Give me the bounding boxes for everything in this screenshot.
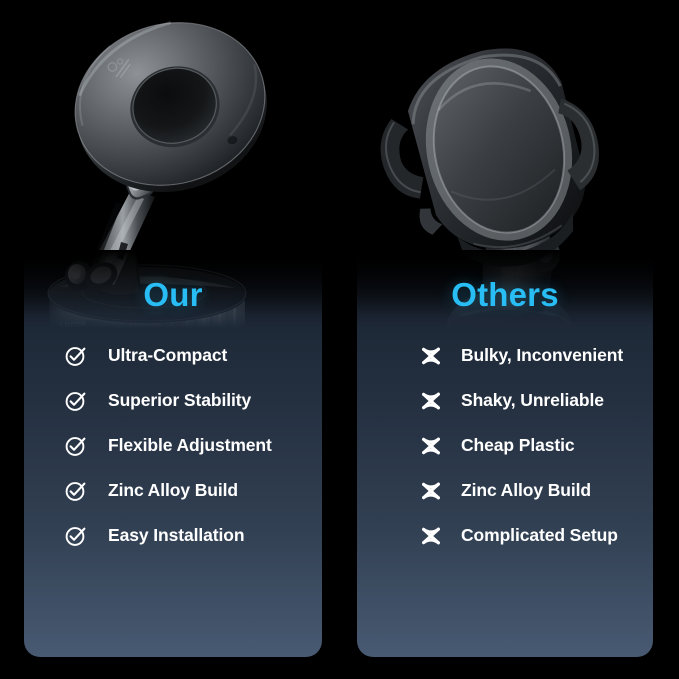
feature-list-others: Bulky, Inconvenient Shaky, Unreliable — [357, 333, 653, 558]
x-mark-icon — [419, 524, 443, 548]
feature-label: Ultra-Compact — [108, 345, 227, 366]
list-item: Ultra-Compact — [64, 333, 322, 378]
list-item: Cheap Plastic — [419, 423, 653, 468]
x-mark-icon — [419, 389, 443, 413]
feature-label: Easy Installation — [108, 525, 244, 546]
check-circle-icon — [64, 389, 88, 413]
feature-label: Complicated Setup — [461, 525, 618, 546]
panel-ours: Our Ultra-Compact Superior Stability — [24, 250, 322, 657]
feature-label: Cheap Plastic — [461, 435, 574, 456]
check-circle-icon — [64, 434, 88, 458]
feature-label: Flexible Adjustment — [108, 435, 272, 456]
x-mark-icon — [419, 434, 443, 458]
list-item: Shaky, Unreliable — [419, 378, 653, 423]
list-item: Zinc Alloy Build — [64, 468, 322, 513]
check-circle-icon — [64, 344, 88, 368]
feature-label: Shaky, Unreliable — [461, 390, 604, 411]
panel-others: Others Bulky, Inconvenient — [357, 250, 653, 657]
list-item: Flexible Adjustment — [64, 423, 322, 468]
comparison-infographic: LOOSE TIGHT ▸ — [0, 0, 679, 679]
check-circle-icon — [64, 524, 88, 548]
feature-label: Superior Stability — [108, 390, 251, 411]
feature-label: Zinc Alloy Build — [108, 480, 238, 501]
list-item: Zinc Alloy Build — [419, 468, 653, 513]
feature-list-ours: Ultra-Compact Superior Stability Flexibl… — [24, 333, 322, 558]
list-item: Superior Stability — [64, 378, 322, 423]
feature-label: Zinc Alloy Build — [461, 480, 591, 501]
check-circle-icon — [64, 479, 88, 503]
feature-label: Bulky, Inconvenient — [461, 345, 623, 366]
list-item: Bulky, Inconvenient — [419, 333, 653, 378]
x-mark-icon — [419, 479, 443, 503]
list-item: Easy Installation — [64, 513, 322, 558]
panel-title-others: Others — [357, 278, 653, 311]
list-item: Complicated Setup — [419, 513, 653, 558]
x-mark-icon — [419, 344, 443, 368]
panel-title-ours: Our — [24, 278, 322, 311]
